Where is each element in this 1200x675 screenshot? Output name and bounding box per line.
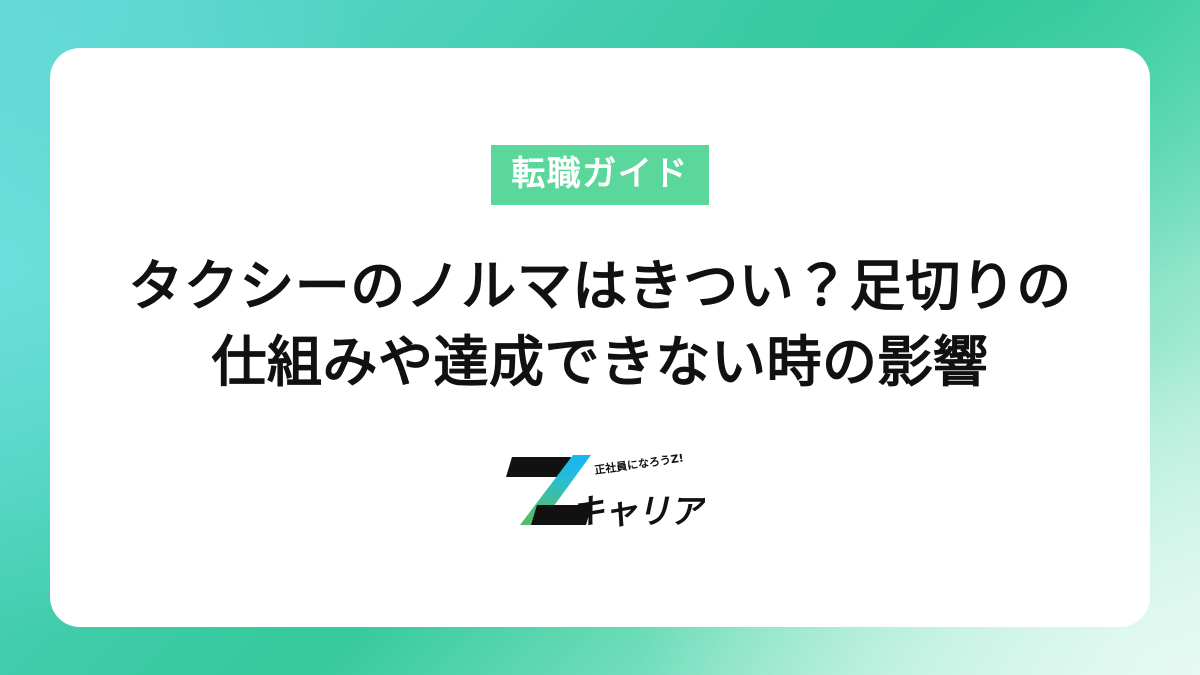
ogp-canvas: 転職ガイド タクシーのノルマはきつい？足切りの 仕組みや達成できない時の影響 — [0, 0, 1200, 675]
article-title-line-1: タクシーのノルマはきつい？足切りの — [128, 249, 1072, 325]
logo-brand-text: キャリア — [569, 492, 705, 532]
brand-logo: 正社員になろうZ! キャリア — [495, 447, 705, 532]
article-title-line-2: 仕組みや達成できない時の影響 — [128, 325, 1072, 401]
content-card: 転職ガイド タクシーのノルマはきつい？足切りの 仕組みや達成できない時の影響 — [50, 48, 1150, 627]
logo-tagline-text: 正社員になろうZ! — [593, 450, 684, 476]
article-title: タクシーのノルマはきつい？足切りの 仕組みや達成できない時の影響 — [128, 249, 1072, 401]
z-career-logo-icon: 正社員になろうZ! キャリア — [495, 447, 705, 532]
category-badge: 転職ガイド — [491, 145, 709, 205]
